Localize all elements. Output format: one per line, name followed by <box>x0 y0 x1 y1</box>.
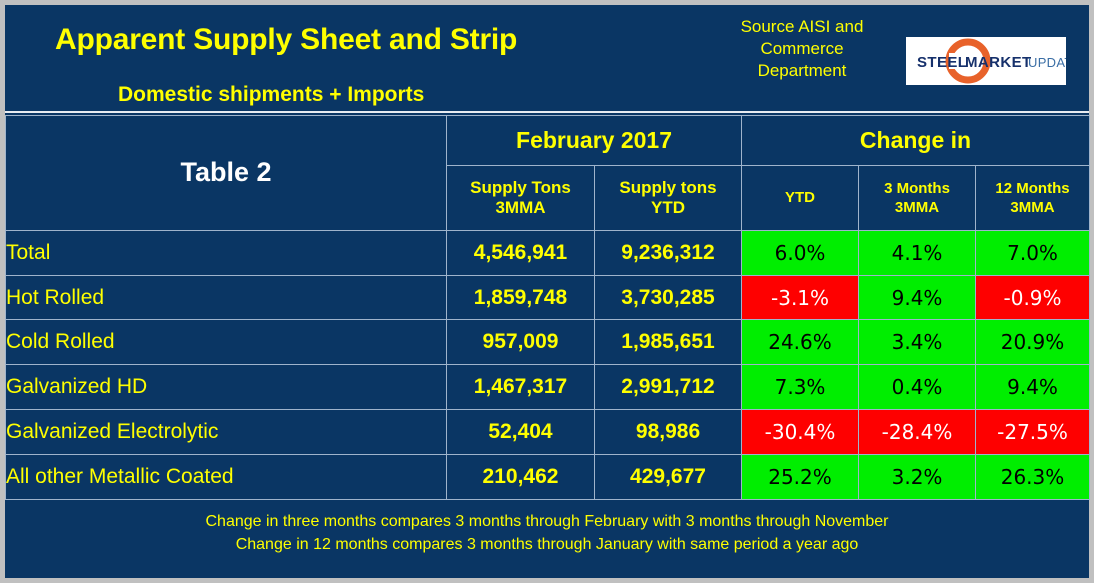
cell-change-ytd: 7.3% <box>742 365 859 410</box>
cell-supply-tons-3mma: 52,404 <box>447 410 595 455</box>
slide-header: Apparent Supply Sheet and Strip Domestic… <box>5 5 1089 113</box>
col-header-change-3-months: 3 Months 3MMA <box>859 166 976 231</box>
cell-change-12-months: 20.9% <box>976 320 1090 365</box>
page-title: Apparent Supply Sheet and Strip <box>55 23 517 57</box>
source-note: Source AISI and Commerce Department <box>732 16 872 82</box>
col-header-change-ytd: YTD <box>742 166 859 231</box>
table-corner-label: Table 2 <box>6 116 447 231</box>
cell-change-12-months: -27.5% <box>976 410 1090 455</box>
row-label: Total <box>6 230 447 275</box>
col-header-line1: Supply Tons <box>447 178 594 198</box>
row-label: Hot Rolled <box>6 275 447 320</box>
data-table: Table 2 February 2017 Change in Supply T… <box>5 115 1090 500</box>
cell-change-3-months: 4.1% <box>859 230 976 275</box>
cell-supply-tons-ytd: 1,985,651 <box>595 320 742 365</box>
row-label: Galvanized Electrolytic <box>6 410 447 455</box>
logo-graphic: STEEL MARKET UPDATE <box>906 37 1066 85</box>
cell-supply-tons-3mma: 1,467,317 <box>447 365 595 410</box>
table-row: Galvanized HD1,467,3172,991,7127.3%0.4%9… <box>6 365 1090 410</box>
col-header-line1: YTD <box>742 188 858 207</box>
cell-change-ytd: 24.6% <box>742 320 859 365</box>
cell-change-3-months: 0.4% <box>859 365 976 410</box>
cell-supply-tons-3mma: 4,546,941 <box>447 230 595 275</box>
cell-change-12-months: 7.0% <box>976 230 1090 275</box>
table-group-header-row: Table 2 February 2017 Change in <box>6 116 1090 166</box>
cell-change-ytd: -3.1% <box>742 275 859 320</box>
cell-supply-tons-ytd: 2,991,712 <box>595 365 742 410</box>
cell-change-ytd: 25.2% <box>742 455 859 500</box>
col-header-line2: 3MMA <box>859 198 975 217</box>
svg-text:STEEL: STEEL <box>917 54 967 71</box>
group-header-change-in: Change in <box>742 116 1090 166</box>
cell-change-12-months: -0.9% <box>976 275 1090 320</box>
cell-change-12-months: 26.3% <box>976 455 1090 500</box>
cell-supply-tons-3mma: 210,462 <box>447 455 595 500</box>
slide-canvas: Apparent Supply Sheet and Strip Domestic… <box>5 5 1089 578</box>
col-header-supply-tons-3mma: Supply Tons 3MMA <box>447 166 595 231</box>
cell-change-3-months: 3.4% <box>859 320 976 365</box>
cell-change-12-months: 9.4% <box>976 365 1090 410</box>
cell-supply-tons-ytd: 3,730,285 <box>595 275 742 320</box>
col-header-change-12-months: 12 Months 3MMA <box>976 166 1090 231</box>
footnote-line-1: Change in three months compares 3 months… <box>5 510 1089 533</box>
table-row: Total4,546,9419,236,3126.0%4.1%7.0% <box>6 230 1090 275</box>
table-row: Cold Rolled957,0091,985,65124.6%3.4%20.9… <box>6 320 1090 365</box>
page-subtitle: Domestic shipments + Imports <box>118 83 424 107</box>
cell-supply-tons-3mma: 957,009 <box>447 320 595 365</box>
cell-supply-tons-ytd: 98,986 <box>595 410 742 455</box>
cell-change-ytd: 6.0% <box>742 230 859 275</box>
table-row: Hot Rolled1,859,7483,730,285-3.1%9.4%-0.… <box>6 275 1090 320</box>
svg-text:MARKET: MARKET <box>965 54 1032 71</box>
col-header-line2: 3MMA <box>447 198 594 218</box>
col-header-line1: 12 Months <box>976 179 1089 198</box>
steel-market-update-logo: STEEL MARKET UPDATE <box>906 37 1066 85</box>
table-row: Galvanized Electrolytic52,40498,986-30.4… <box>6 410 1090 455</box>
row-label: Cold Rolled <box>6 320 447 365</box>
group-header-february-2017: February 2017 <box>447 116 742 166</box>
row-label: Galvanized HD <box>6 365 447 410</box>
table-row: All other Metallic Coated210,462429,6772… <box>6 455 1090 500</box>
col-header-line1: Supply tons <box>595 178 741 198</box>
col-header-line2: YTD <box>595 198 741 218</box>
footnotes: Change in three months compares 3 months… <box>5 510 1089 556</box>
cell-change-3-months: -28.4% <box>859 410 976 455</box>
cell-supply-tons-3mma: 1,859,748 <box>447 275 595 320</box>
cell-change-3-months: 3.2% <box>859 455 976 500</box>
footnote-line-2: Change in 12 months compares 3 months th… <box>5 533 1089 556</box>
col-header-line2: 3MMA <box>976 198 1089 217</box>
col-header-supply-tons-ytd: Supply tons YTD <box>595 166 742 231</box>
svg-text:UPDATE: UPDATE <box>1028 55 1066 70</box>
row-label: All other Metallic Coated <box>6 455 447 500</box>
cell-change-3-months: 9.4% <box>859 275 976 320</box>
cell-change-ytd: -30.4% <box>742 410 859 455</box>
cell-supply-tons-ytd: 9,236,312 <box>595 230 742 275</box>
title-block: Apparent Supply Sheet and Strip Domestic… <box>5 5 720 113</box>
col-header-line1: 3 Months <box>859 179 975 198</box>
cell-supply-tons-ytd: 429,677 <box>595 455 742 500</box>
